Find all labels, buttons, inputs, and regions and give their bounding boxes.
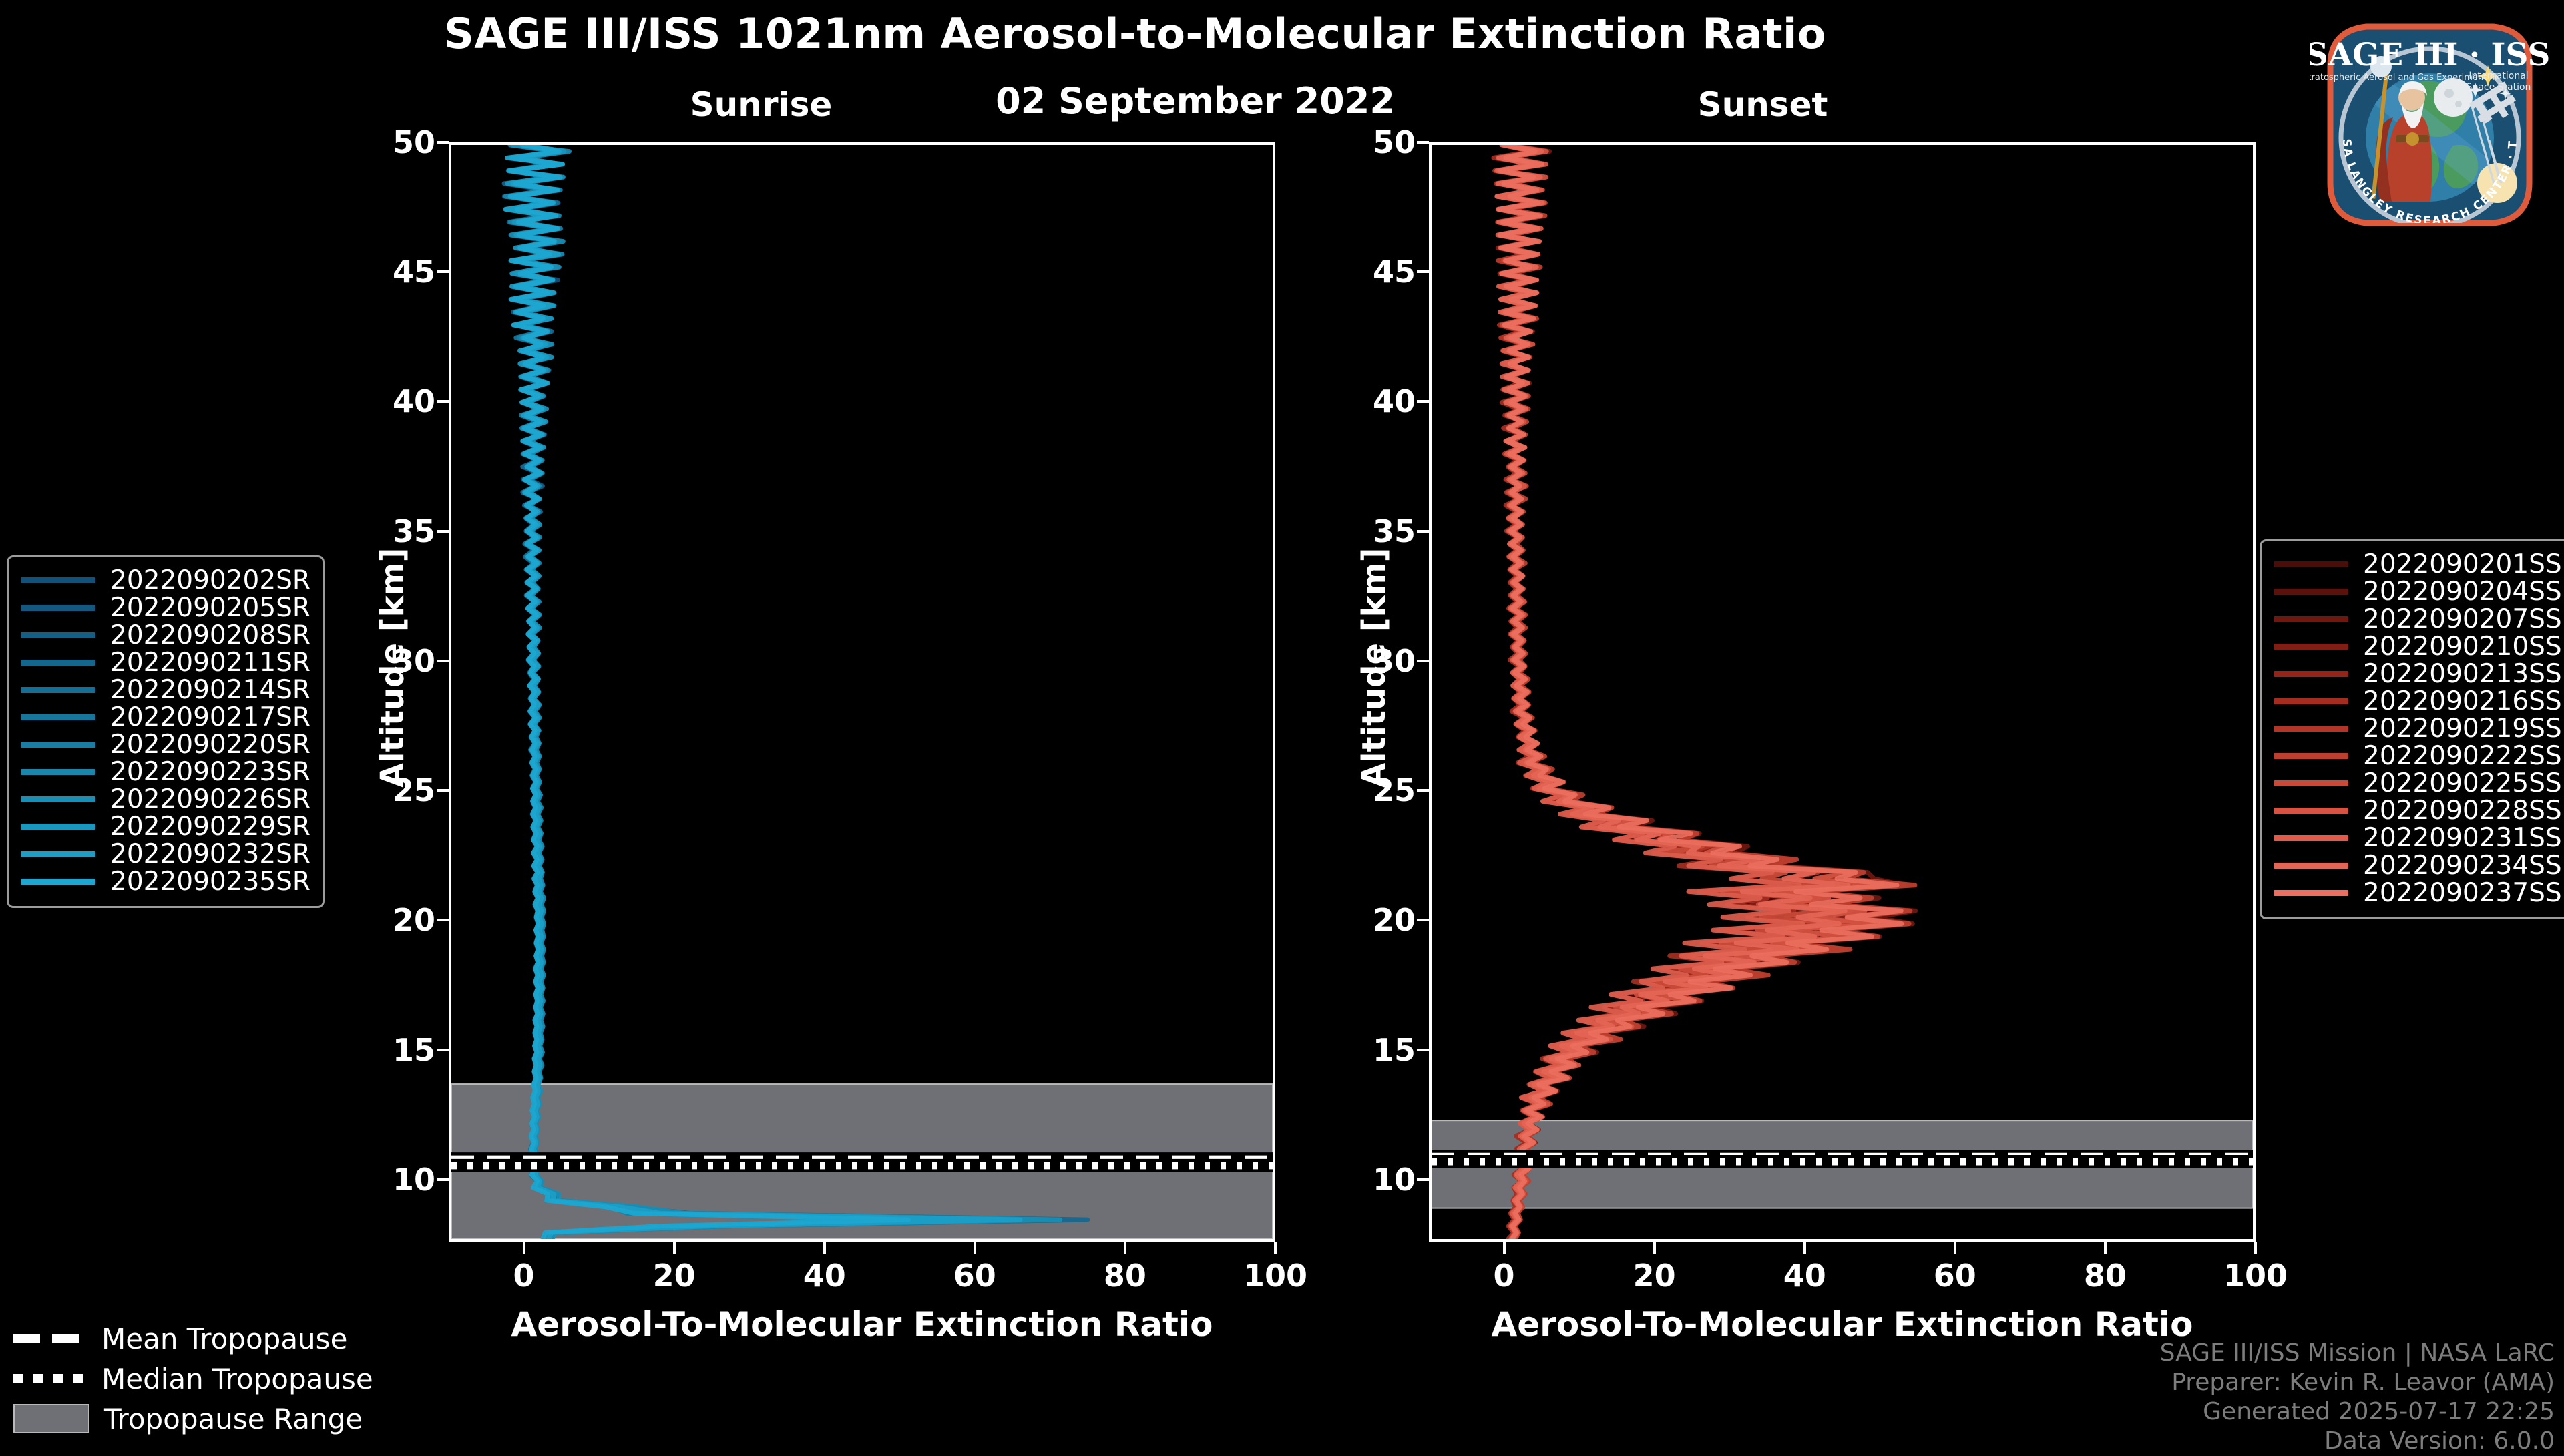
legend-color-swatch: [2274, 835, 2348, 841]
legend-color-swatch: [2274, 616, 2348, 622]
legend-item-label: 2022090219SS: [2363, 714, 2562, 744]
legend-label-median-tropopause: Median Tropopause: [101, 1363, 373, 1395]
legend-item-label: 2022090202SR: [110, 565, 310, 595]
footer-preparer: Preparer: Kevin R. Leavor (AMA): [2160, 1368, 2555, 1397]
legend-item[interactable]: 2022090234SS: [2274, 852, 2562, 879]
sunrise-y-axis-label: Altitude [km]: [374, 547, 411, 788]
legend-color-swatch: [21, 824, 95, 830]
legend-item-label: 2022090213SS: [2363, 659, 2562, 689]
logo-subtitle-right-line1: International: [2469, 71, 2528, 81]
legend-item[interactable]: 2022090201SS: [2274, 551, 2562, 578]
y-axis-tick-mark: [1417, 530, 1429, 533]
legend-color-swatch: [2274, 726, 2348, 732]
legend-item-label: 2022090225SS: [2363, 768, 2562, 798]
x-axis-tick-mark: [2254, 1242, 2257, 1254]
legend-item[interactable]: 2022090229SR: [21, 813, 310, 840]
legend-item[interactable]: 2022090211SR: [21, 649, 310, 676]
legend-color-swatch: [2274, 890, 2348, 896]
legend-item[interactable]: 2022090216SS: [2274, 688, 2562, 715]
legend-item-label: 2022090231SS: [2363, 823, 2562, 853]
legend-item-label: 2022090220SR: [110, 730, 310, 760]
legend-item-label: 2022090211SR: [110, 648, 310, 678]
legend-color-swatch: [2274, 753, 2348, 759]
legend-item-label: 2022090208SR: [110, 620, 310, 650]
sunrise-x-axis-label: Aerosol-To-Molecular Extinction Ratio: [449, 1305, 1275, 1344]
legend-row-tropopause-range: Tropopause Range: [13, 1399, 373, 1439]
legend-item-label: 2022090232SR: [110, 839, 310, 869]
y-axis-tick-mark: [1417, 270, 1429, 273]
legend-color-swatch: [2274, 644, 2348, 650]
y-axis-tick-label: 20: [1342, 902, 1416, 938]
y-axis-tick-label: 45: [1342, 254, 1416, 290]
legend-color-swatch: [2274, 780, 2348, 786]
legend-item[interactable]: 2022090214SR: [21, 676, 310, 704]
legend-item[interactable]: 2022090217SR: [21, 704, 310, 731]
legend-item-label: 2022090207SS: [2363, 604, 2562, 634]
x-axis-tick-mark: [1503, 1242, 1506, 1254]
sage-iii-iss-mission-patch-logo: BALL · NASA LANGLEY RESEARCH CENTER · TA…: [2310, 4, 2549, 243]
y-axis-tick-label: 50: [1342, 124, 1416, 160]
legend-item[interactable]: 2022090208SR: [21, 622, 310, 649]
legend-item-label: 2022090229SR: [110, 812, 310, 842]
legend-row-median-tropopause: Median Tropopause: [13, 1359, 373, 1399]
sunset-x-axis-label: Aerosol-To-Molecular Extinction Ratio: [1429, 1305, 2256, 1344]
x-axis-tick-label: 40: [1783, 1258, 1826, 1294]
x-axis-tick-mark: [1653, 1242, 1656, 1254]
legend-item-label: 2022090201SS: [2363, 549, 2562, 579]
legend-label-tropopause-range: Tropopause Range: [104, 1403, 363, 1435]
footer-generated: Generated 2025-07-17 22:25: [2160, 1397, 2555, 1427]
legend-color-swatch: [2274, 589, 2348, 595]
legend-item-label: 2022090214SR: [110, 675, 310, 705]
legend-color-swatch: [2274, 698, 2348, 704]
y-axis-tick-mark: [1417, 789, 1429, 792]
y-axis-tick-label: 35: [1342, 513, 1416, 549]
legend-item-label: 2022090234SS: [2363, 851, 2562, 881]
x-axis-tick-mark: [1803, 1242, 1806, 1254]
legend-item-label: 2022090205SR: [110, 593, 310, 623]
legend-item[interactable]: 2022090223SR: [21, 758, 310, 786]
legend-item[interactable]: 2022090222SS: [2274, 742, 2562, 770]
x-axis-tick-label: 60: [1934, 1258, 1976, 1294]
legend-item[interactable]: 2022090204SS: [2274, 578, 2562, 605]
logo-title: SAGE III · ISS: [2310, 37, 2549, 73]
x-axis-tick-label: 100: [2223, 1258, 2288, 1294]
legend-item-label: 2022090226SR: [110, 784, 310, 814]
legend-item[interactable]: 2022090210SS: [2274, 633, 2562, 660]
legend-item[interactable]: 2022090205SR: [21, 594, 310, 622]
legend-color-swatch: [21, 851, 95, 857]
legend-color-swatch: [21, 660, 95, 666]
legend-color-swatch: [21, 687, 95, 693]
legend-color-swatch: [21, 769, 95, 775]
legend-color-swatch: [21, 714, 95, 720]
legend-item-label: 2022090204SS: [2363, 577, 2562, 607]
filled-band-icon: [13, 1404, 89, 1433]
sunset-legend[interactable]: 2022090201SS2022090204SS2022090207SS2022…: [2260, 539, 2564, 919]
footer-attribution: SAGE III/ISS Mission | NASA LaRC Prepare…: [2160, 1339, 2555, 1456]
y-axis-tick-label: 15: [1342, 1032, 1416, 1068]
tropopause-legend: Mean Tropopause Median Tropopause Tropop…: [13, 1318, 373, 1439]
x-axis-tick-label: 80: [2084, 1258, 2127, 1294]
legend-color-swatch: [2274, 671, 2348, 677]
legend-color-swatch: [21, 879, 95, 885]
logo-subtitle-right-line2: Space Station: [2467, 82, 2531, 93]
x-axis-tick-mark: [2104, 1242, 2107, 1254]
legend-item-label: 2022090217SR: [110, 702, 310, 732]
legend-item[interactable]: 2022090213SS: [2274, 660, 2562, 688]
legend-row-mean-tropopause: Mean Tropopause: [13, 1318, 373, 1359]
y-axis-tick-mark: [1417, 919, 1429, 921]
sunrise-legend[interactable]: 2022090202SR2022090205SR2022090208SR2022…: [7, 555, 325, 908]
legend-item-label: 2022090223SR: [110, 757, 310, 787]
y-axis-tick-label: 40: [1342, 383, 1416, 419]
legend-color-swatch: [2274, 561, 2348, 567]
legend-item-label: 2022090216SS: [2363, 686, 2562, 716]
legend-item[interactable]: 2022090232SR: [21, 840, 310, 868]
y-axis-tick-mark: [1417, 660, 1429, 662]
dashed-line-icon: [13, 1334, 87, 1343]
legend-item-label: 2022090222SS: [2363, 741, 2562, 771]
legend-item[interactable]: 2022090235SR: [21, 868, 310, 895]
y-axis-tick-label: 10: [1342, 1162, 1416, 1198]
legend-item-label: 2022090210SS: [2363, 632, 2562, 662]
legend-item[interactable]: 2022090237SS: [2274, 879, 2562, 907]
legend-item-label: 2022090228SS: [2363, 796, 2562, 826]
footer-data-version: Data Version: 6.0.0: [2160, 1427, 2555, 1456]
legend-item[interactable]: 2022090231SS: [2274, 824, 2562, 852]
x-axis-tick-label: 20: [1633, 1258, 1676, 1294]
legend-color-swatch: [21, 605, 95, 611]
y-axis-tick-mark: [1417, 141, 1429, 144]
x-axis-tick-mark: [1954, 1242, 1956, 1254]
legend-color-swatch: [21, 796, 95, 802]
sunset-y-axis-label: Altitude [km]: [1355, 547, 1393, 788]
x-axis-tick-label: 0: [1494, 1258, 1515, 1294]
y-axis-tick-mark: [1417, 1178, 1429, 1181]
legend-item[interactable]: 2022090225SS: [2274, 770, 2562, 797]
footer-mission: SAGE III/ISS Mission | NASA LaRC: [2160, 1339, 2555, 1368]
legend-color-swatch: [21, 742, 95, 748]
y-axis-tick-mark: [1417, 1049, 1429, 1051]
legend-color-swatch: [21, 632, 95, 638]
legend-item[interactable]: 2022090207SS: [2274, 605, 2562, 633]
legend-label-mean-tropopause: Mean Tropopause: [101, 1322, 347, 1355]
legend-item[interactable]: 2022090226SR: [21, 786, 310, 813]
legend-item-label: 2022090235SR: [110, 867, 310, 897]
legend-item[interactable]: 2022090228SS: [2274, 797, 2562, 824]
legend-item-label: 2022090237SS: [2363, 878, 2562, 908]
legend-color-swatch: [21, 577, 95, 583]
legend-color-swatch: [2274, 808, 2348, 814]
legend-color-swatch: [2274, 863, 2348, 869]
dotted-line-icon: [13, 1374, 87, 1383]
y-axis-tick-mark: [1417, 400, 1429, 403]
legend-item[interactable]: 2022090219SS: [2274, 715, 2562, 742]
legend-item[interactable]: 2022090220SR: [21, 731, 310, 758]
legend-item[interactable]: 2022090202SR: [21, 567, 310, 594]
